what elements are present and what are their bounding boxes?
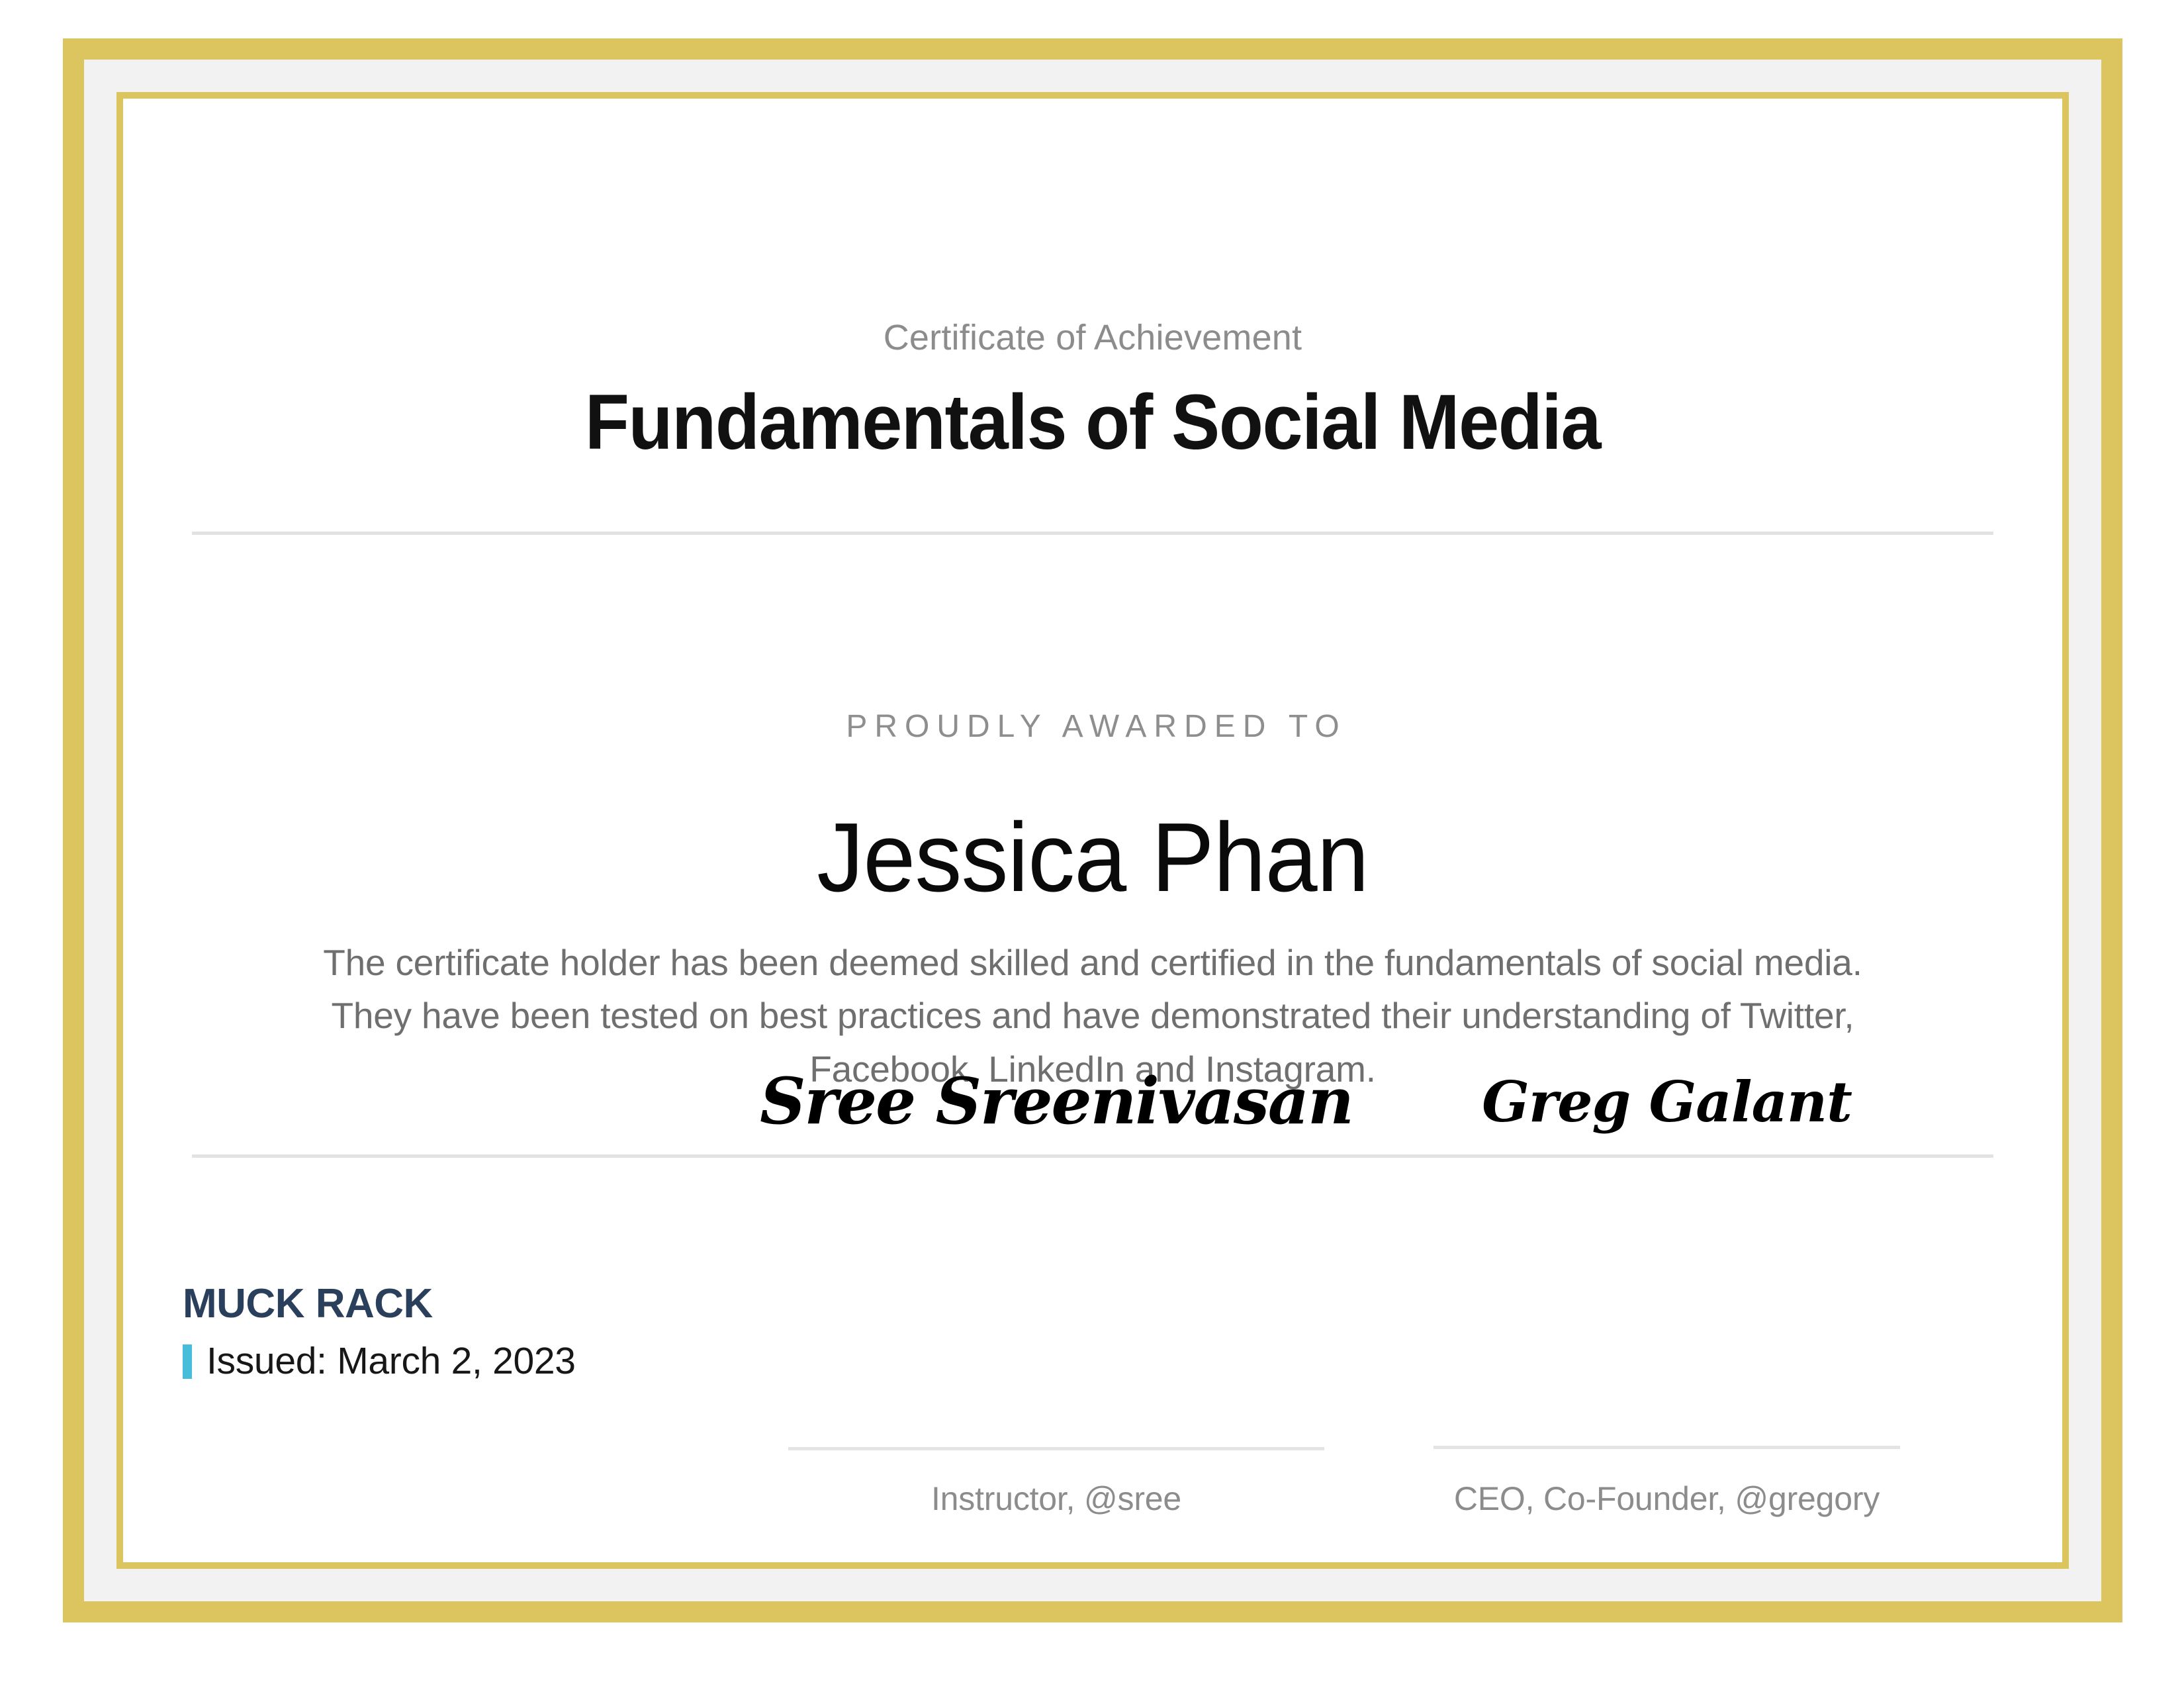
signature-line-instructor — [788, 1447, 1324, 1450]
signature-caption-instructor: Instructor, @sree — [758, 1482, 1354, 1515]
signature-caption-ceo: CEO, Co-Founder, @gregory — [1417, 1482, 1917, 1515]
issued-date: Issued: March 2, 2023 — [206, 1342, 576, 1380]
brand-block: MUCK RACK Issued: March 2, 2023 — [183, 1284, 646, 1380]
signature-instructor: Sree Sreenivasan — [758, 1070, 1354, 1133]
muck-rack-logo: MUCK RACK — [183, 1284, 646, 1325]
divider-top — [192, 532, 1993, 535]
awarded-to-label: PROUDLY AWARDED TO — [123, 711, 2062, 743]
certificate-document: Certificate of Achievement Fundamentals … — [0, 0, 2184, 1688]
issued-date-row: Issued: March 2, 2023 — [183, 1342, 646, 1380]
signature-ceo: Greg Galant — [1417, 1074, 1917, 1130]
course-title: Fundamentals of Social Media — [191, 383, 1995, 461]
accent-bar-icon — [183, 1344, 192, 1379]
signature-line-ceo — [1433, 1446, 1900, 1449]
certificate-eyebrow: Certificate of Achievement — [123, 320, 2062, 355]
certificate-content: Certificate of Achievement Fundamentals … — [123, 99, 2062, 1562]
recipient-name: Jessica Phan — [162, 809, 2024, 907]
certificate-footer: MUCK RACK Issued: March 2, 2023 Sree Sre… — [123, 1217, 2062, 1562]
divider-bottom — [192, 1154, 1993, 1158]
